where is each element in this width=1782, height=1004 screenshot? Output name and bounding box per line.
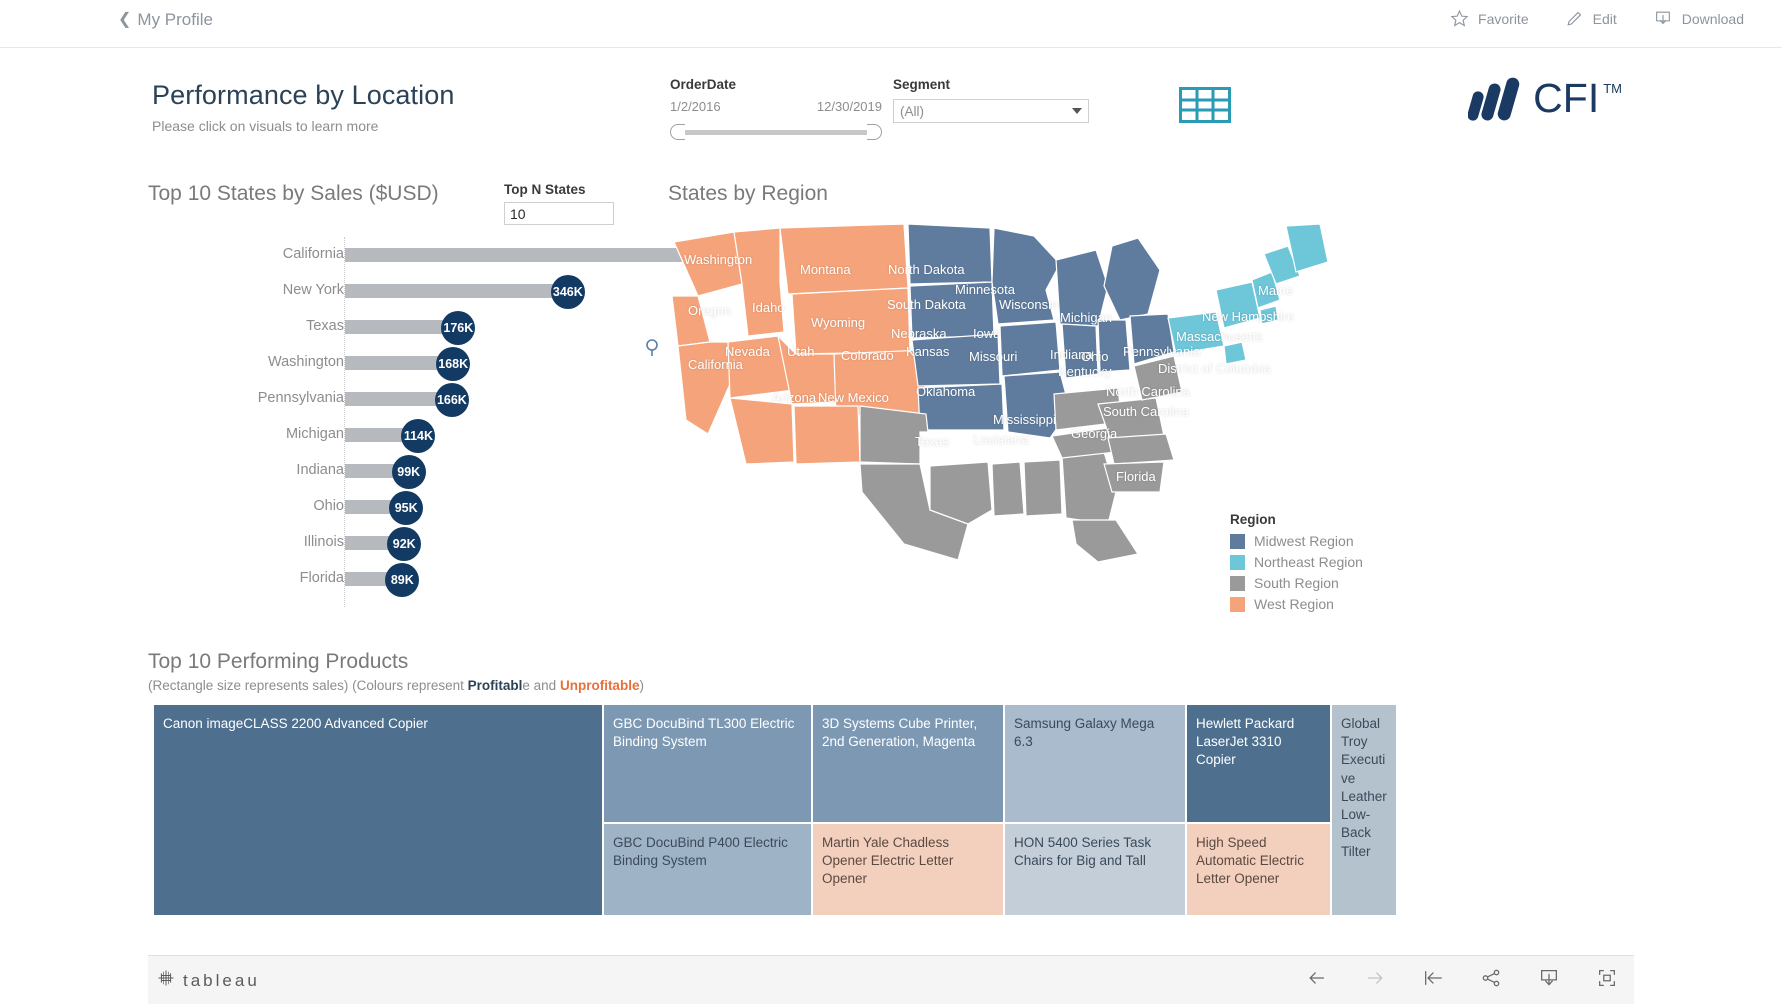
chevron-left-icon: ❮ xyxy=(118,12,131,28)
bar-row[interactable]: Ohio95K xyxy=(148,489,748,525)
bar-value-bubble[interactable]: 176K xyxy=(441,311,475,345)
cfi-trademark: TM xyxy=(1603,81,1622,96)
treemap-subtitle-profitable: Profitabl xyxy=(468,678,523,693)
edit-button[interactable]: Edit xyxy=(1565,9,1617,28)
bottom-toolbar: tableau xyxy=(148,955,1634,1004)
fullscreen-icon[interactable] xyxy=(1594,965,1620,991)
legend-swatch-midwest xyxy=(1230,534,1245,549)
bar-value-bubble[interactable]: 95K xyxy=(389,491,423,525)
segment-filter: Segment (All) xyxy=(893,77,1121,123)
bar-label: California xyxy=(283,246,344,262)
legend-swatch-northeast xyxy=(1230,555,1245,570)
legend-swatch-south xyxy=(1230,576,1245,591)
segment-dropdown[interactable]: (All) xyxy=(893,99,1089,123)
bar-row[interactable]: Pennsylvania166K xyxy=(148,381,748,417)
orderdate-slider[interactable] xyxy=(670,124,882,140)
tableau-icon xyxy=(156,968,176,993)
page-title: Performance by Location xyxy=(152,80,454,111)
bar-value-bubble[interactable]: 168K xyxy=(436,347,470,381)
legend-label-west: West Region xyxy=(1254,596,1334,612)
slider-track[interactable] xyxy=(676,130,876,135)
grid-table-icon[interactable] xyxy=(1179,87,1231,128)
bar-label: Indiana xyxy=(296,462,344,478)
download-icon[interactable] xyxy=(1536,965,1562,991)
legend-title: Region xyxy=(1230,512,1363,527)
cursor-indicator xyxy=(645,339,663,366)
top-actions: Favorite Edit Download xyxy=(1450,9,1744,28)
bar-label: New York xyxy=(283,282,344,298)
back-arrow-icon[interactable] xyxy=(1304,965,1330,991)
top-states-bar-chart: Top 10 States by Sales ($USD) Top N Stat… xyxy=(148,182,748,612)
orderdate-filter: OrderDate 1/2/2016 12/30/2019 xyxy=(670,77,882,140)
bar-row[interactable]: Illinois92K xyxy=(148,525,748,561)
slider-handle-start[interactable] xyxy=(670,124,685,140)
download-label: Download xyxy=(1682,11,1744,27)
legend-item-south[interactable]: South Region xyxy=(1230,575,1363,591)
region-legend: Region Midwest Region Northeast Region S… xyxy=(1230,512,1363,617)
bar-value-bubble[interactable]: 166K xyxy=(435,383,469,417)
page-subtitle: Please click on visuals to learn more xyxy=(152,118,378,134)
bar-chart-title: Top 10 States by Sales ($USD) xyxy=(148,182,748,206)
treemap-cell[interactable]: Global Troy Executive Leather Low-Back T… xyxy=(1331,704,1397,916)
orderdate-start: 1/2/2016 xyxy=(670,99,721,114)
treemap-cell[interactable]: 3D Systems Cube Printer, 2nd Generation,… xyxy=(812,704,1004,823)
map-title: States by Region xyxy=(668,182,828,206)
treemap-cell[interactable]: Canon imageCLASS 2200 Advanced Copier xyxy=(153,704,603,916)
legend-item-midwest[interactable]: Midwest Region xyxy=(1230,533,1363,549)
pencil-icon xyxy=(1565,9,1584,28)
legend-label-south: South Region xyxy=(1254,575,1339,591)
download-icon xyxy=(1653,9,1673,28)
treemap-column: Global Troy Executive Leather Low-Back T… xyxy=(1331,704,1397,916)
treemap-subtitle-c: ) xyxy=(639,678,644,693)
tableau-brand[interactable]: tableau xyxy=(156,968,260,993)
treemap-subtitle-a: (Rectangle size represents sales) (Colou… xyxy=(148,678,468,693)
legend-label-midwest: Midwest Region xyxy=(1254,533,1354,549)
bar-label: Washington xyxy=(268,354,344,370)
bar-label: Ohio xyxy=(313,498,344,514)
breadcrumb[interactable]: ❮ My Profile xyxy=(118,10,213,30)
treemap-cell[interactable]: Hewlett Packard LaserJet 3310 Copier xyxy=(1186,704,1331,823)
bar-rows-container: California590KNew York346KTexas176KWashi… xyxy=(148,237,748,607)
dashboard-container: Performance by Location Please click on … xyxy=(148,50,1634,955)
states-by-region-map: States by Region xyxy=(668,182,1634,612)
bar-value-bubble[interactable]: 346K xyxy=(551,275,585,309)
legend-swatch-west xyxy=(1230,597,1245,612)
treemap-container: Canon imageCLASS 2200 Advanced CopierGBC… xyxy=(152,703,1588,917)
treemap-subtitle-b: e and xyxy=(522,678,560,693)
treemap-cell[interactable]: High Speed Automatic Electric Letter Ope… xyxy=(1186,823,1331,916)
edit-label: Edit xyxy=(1593,11,1617,27)
bar-row[interactable]: Indiana99K xyxy=(148,453,748,489)
bar-label: Illinois xyxy=(304,534,344,550)
cfi-mark-icon xyxy=(1468,77,1530,121)
cfi-logo-text: CFI xyxy=(1533,77,1599,119)
star-icon xyxy=(1450,9,1469,28)
bar-value-bubble[interactable]: 99K xyxy=(392,455,426,489)
segment-value: (All) xyxy=(900,104,924,119)
bar-label: Florida xyxy=(300,570,344,586)
treemap-cell[interactable]: Samsung Galaxy Mega 6.3 xyxy=(1004,704,1186,823)
revert-icon[interactable] xyxy=(1420,965,1446,991)
treemap-column: Samsung Galaxy Mega 6.3HON 5400 Series T… xyxy=(1004,704,1186,916)
breadcrumb-label: My Profile xyxy=(137,10,213,30)
orderdate-end: 12/30/2019 xyxy=(817,99,882,114)
bar-fill[interactable] xyxy=(345,284,568,298)
cfi-logo: CFI TM xyxy=(1468,77,1622,121)
chevron-down-icon xyxy=(1072,108,1082,114)
treemap-column: 3D Systems Cube Printer, 2nd Generation,… xyxy=(812,704,1004,916)
bottom-toolbar-icons xyxy=(1304,965,1620,991)
top-products-treemap: Top 10 Performing Products (Rectangle si… xyxy=(148,650,1634,910)
treemap-cell[interactable]: GBC DocuBind P400 Electric Binding Syste… xyxy=(603,823,812,916)
treemap-subtitle: (Rectangle size represents sales) (Colou… xyxy=(148,678,1634,693)
top-n-value: 10 xyxy=(510,206,526,222)
bar-value-bubble[interactable]: 89K xyxy=(385,563,419,597)
bar-label: Texas xyxy=(306,318,344,334)
favorite-label: Favorite xyxy=(1478,11,1529,27)
top-n-label: Top N States xyxy=(504,182,586,197)
treemap-column: Hewlett Packard LaserJet 3310 CopierHigh… xyxy=(1186,704,1331,916)
forward-arrow-icon[interactable] xyxy=(1362,965,1388,991)
bar-row[interactable]: California590K xyxy=(148,237,748,273)
treemap-cell[interactable]: GBC DocuBind TL300 Electric Binding Syst… xyxy=(603,704,812,823)
orderdate-label: OrderDate xyxy=(670,77,882,92)
bar-label: Michigan xyxy=(286,426,344,442)
segment-label: Segment xyxy=(893,77,1121,92)
treemap-column: Canon imageCLASS 2200 Advanced Copier xyxy=(153,704,603,916)
northeast-region-states xyxy=(1168,224,1328,364)
bar-row[interactable]: Florida89K xyxy=(148,561,748,597)
legend-item-west[interactable]: West Region xyxy=(1230,596,1363,612)
legend-label-northeast: Northeast Region xyxy=(1254,554,1363,570)
bar-value-bubble[interactable]: 114K xyxy=(401,419,435,453)
treemap-cell[interactable]: HON 5400 Series Task Chairs for Big and … xyxy=(1004,823,1186,916)
treemap-title: Top 10 Performing Products xyxy=(148,650,1634,674)
top-n-input[interactable]: 10 xyxy=(504,202,614,225)
download-button[interactable]: Download xyxy=(1653,9,1744,28)
favorite-button[interactable]: Favorite xyxy=(1450,9,1529,28)
legend-item-northeast[interactable]: Northeast Region xyxy=(1230,554,1363,570)
bar-label: Pennsylvania xyxy=(258,390,344,406)
share-icon[interactable] xyxy=(1478,965,1504,991)
treemap-subtitle-unprofitable: Unprofitable xyxy=(560,678,640,693)
bar-value-bubble[interactable]: 92K xyxy=(387,527,421,561)
treemap-cell[interactable]: Martin Yale Chadless Opener Electric Let… xyxy=(812,823,1004,916)
tableau-brand-label: tableau xyxy=(183,971,260,991)
top-navigation-bar: ❮ My Profile Favorite Edit xyxy=(0,0,1782,48)
slider-handle-end[interactable] xyxy=(867,124,882,140)
treemap-column: GBC DocuBind TL300 Electric Binding Syst… xyxy=(603,704,812,916)
bar-row[interactable]: Michigan114K xyxy=(148,417,748,453)
bar-row[interactable]: New York346K xyxy=(148,273,748,309)
